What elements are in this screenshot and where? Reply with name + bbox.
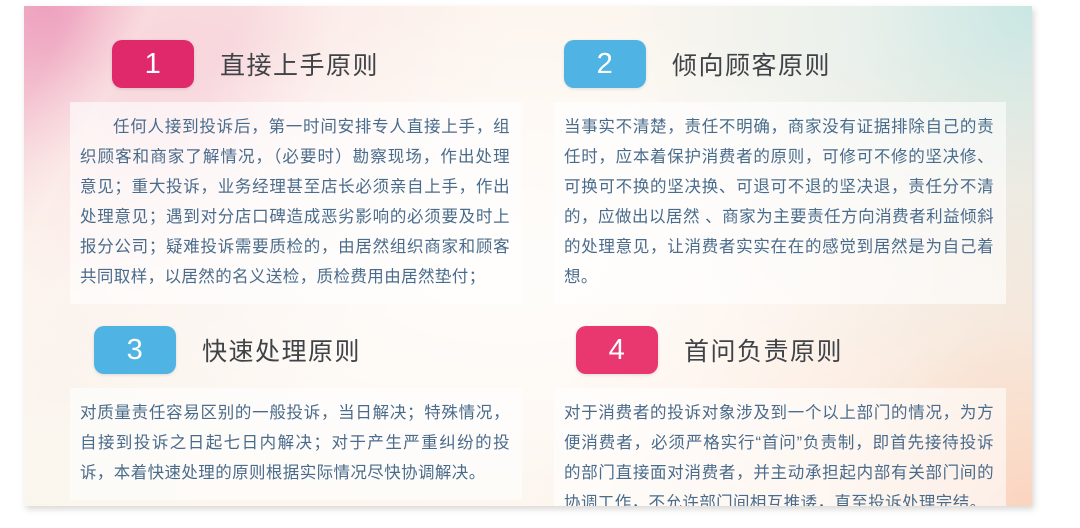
principle-title-2: 倾向顾客原则 [672, 46, 831, 82]
principle-body-4: 对于消费者的投诉对象涉及到一个以上部门的情况，为方便消费者，必须严格实行“首问”… [554, 388, 1006, 506]
principles-grid: 1 直接上手原则 任何人接到投诉后，第一时间安排专人直接上手，组织顾客和商家了解… [24, 6, 1032, 506]
principle-block-3: 3 快速处理原则 对质量责任容易区别的一般投诉，当日解决；特殊情况，自接到投诉之… [70, 326, 522, 506]
infographic-card: 1 直接上手原则 任何人接到投诉后，第一时间安排专人直接上手，组织顾客和商家了解… [24, 6, 1032, 506]
principle-title-3: 快速处理原则 [202, 332, 361, 368]
principle-number-badge-4: 4 [576, 326, 658, 374]
principle-number-badge-2: 2 [564, 40, 646, 88]
principle-header-4: 4 首问负责原则 [558, 326, 1006, 374]
principle-number-badge-3: 3 [94, 326, 176, 374]
principle-block-1: 1 直接上手原则 任何人接到投诉后，第一时间安排专人直接上手，组织顾客和商家了解… [70, 40, 522, 304]
principle-body-3: 对质量责任容易区别的一般投诉，当日解决；特殊情况，自接到投诉之日起七日内解决；对… [70, 388, 522, 500]
principle-header-2: 2 倾向顾客原则 [558, 40, 1006, 88]
principle-title-1: 直接上手原则 [220, 46, 379, 82]
principle-body-2: 当事实不清楚，责任不明确，商家没有证据排除自己的责任时，应本着保护消费者的原则，… [554, 102, 1006, 304]
principle-number-badge-1: 1 [112, 40, 194, 88]
principle-header-1: 1 直接上手原则 [70, 40, 522, 88]
principle-block-2: 2 倾向顾客原则 当事实不清楚，责任不明确，商家没有证据排除自己的责任时，应本着… [558, 40, 1006, 304]
principle-block-4: 4 首问负责原则 对于消费者的投诉对象涉及到一个以上部门的情况，为方便消费者，必… [558, 326, 1006, 506]
principle-header-3: 3 快速处理原则 [70, 326, 522, 374]
principle-title-4: 首问负责原则 [684, 332, 843, 368]
principle-body-1: 任何人接到投诉后，第一时间安排专人直接上手，组织顾客和商家了解情况，（必要时）勘… [70, 102, 522, 304]
